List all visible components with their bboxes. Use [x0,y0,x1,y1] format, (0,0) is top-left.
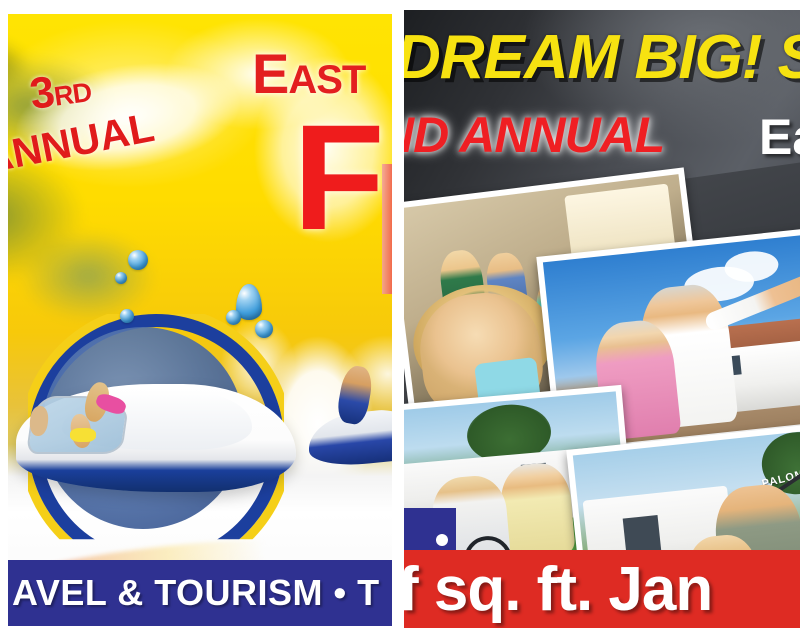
red-edge-stripe [382,164,392,294]
right-footer-text: f sq. ft. Jan [404,554,712,625]
water-droplet-icon [120,309,134,323]
right-headline-dream-big: DREAM BIG! S [404,22,800,93]
left-banner-boat-show: 3RD ANNUAL EAST F AVEL & TOURISM • T [8,14,392,626]
right-banner-rv-show: DREAM BIG! S ND ANNUAL Ea [404,10,800,628]
bullet-dot-icon [436,534,448,546]
ordinal-suffix: RD [52,77,93,112]
left-headline-ordinal: 3RD [27,62,94,120]
right-headline-east: Ea [759,108,800,166]
left-big-letter: F [293,106,385,249]
east-capital: E [252,42,288,105]
right-footer-bar: f sq. ft. Jan [404,550,800,628]
water-droplet-icon [226,310,241,325]
banner-pair-stage: 3RD ANNUAL EAST F AVEL & TOURISM • T [0,0,800,640]
water-droplet-icon [255,320,273,338]
left-footer-bar: AVEL & TOURISM • T [8,560,392,626]
left-footer-text: AVEL & TOURISM • T [12,572,380,614]
water-droplet-icon [115,272,127,284]
boat-passenger-swimsuit-yellow [70,428,96,442]
water-droplet-icon [128,250,148,270]
right-headline-annual: ND ANNUAL [404,106,664,164]
